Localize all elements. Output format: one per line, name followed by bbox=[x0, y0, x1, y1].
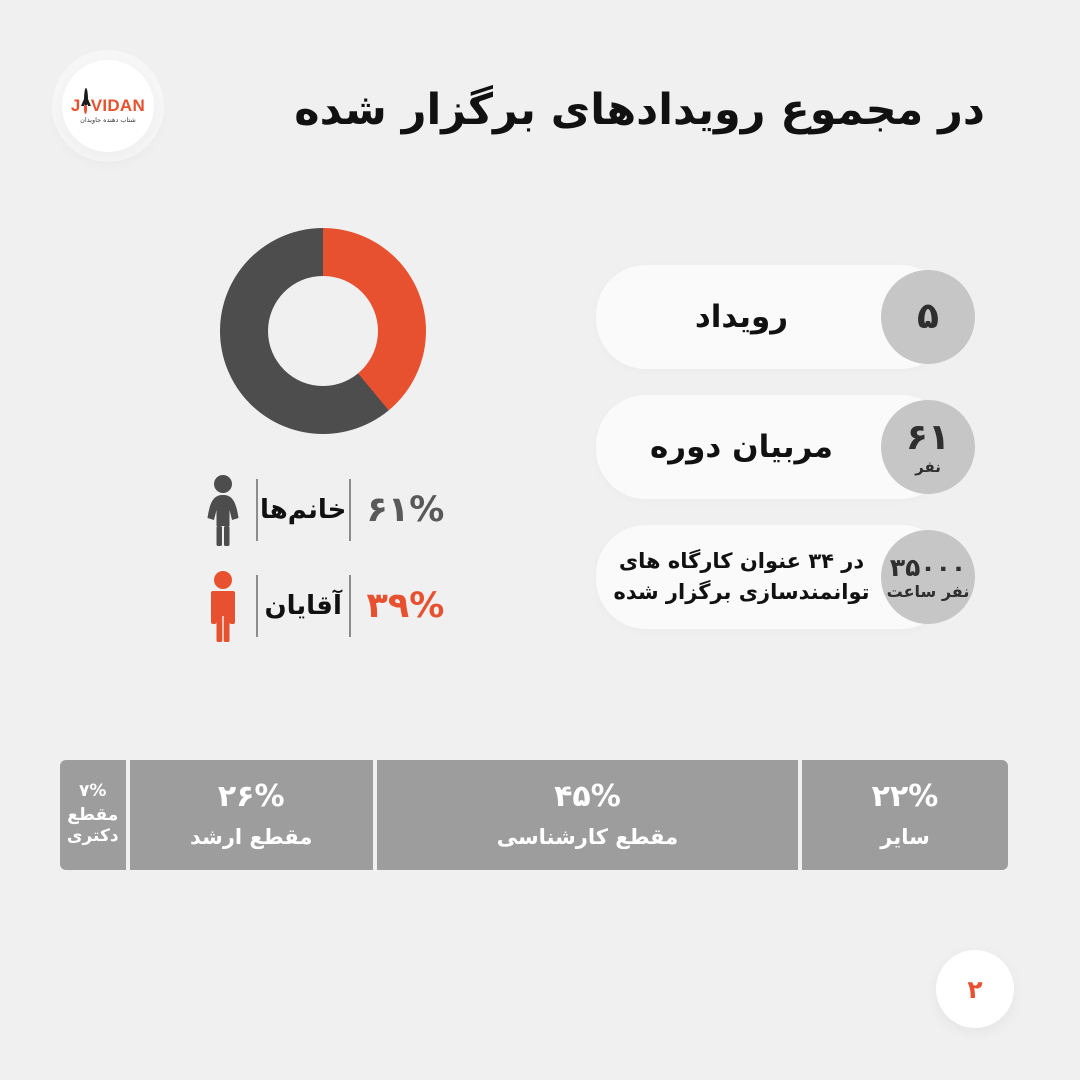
logo-wordmark-left: J bbox=[71, 97, 81, 114]
education-segment-masters: ۲۶% مقطع ارشد bbox=[130, 760, 373, 870]
stat-pill-coaches: مربیان دوره ۶۱ نفر bbox=[596, 395, 951, 499]
education-label-bachelors: مقطع کارشناسی bbox=[497, 825, 678, 850]
logo-wordmark-right: VIDAN bbox=[91, 97, 145, 114]
legend-row-female: خانم‌ها ۶۱% bbox=[190, 462, 460, 558]
male-icon bbox=[190, 570, 256, 642]
rocket-icon bbox=[81, 88, 91, 114]
stat-number-coaches: ۶۱ bbox=[906, 420, 950, 456]
legend-percent-male: ۳۹% bbox=[351, 586, 460, 626]
education-label-masters: مقطع ارشد bbox=[190, 825, 312, 850]
legend-divider bbox=[349, 575, 351, 637]
stat-pill-events: رویداد ۵ bbox=[596, 265, 951, 369]
logo-wordmark: J VIDAN bbox=[71, 88, 145, 114]
legend-label-male: آقایان bbox=[258, 591, 349, 621]
gender-legend: خانم‌ها ۶۱% آقایان ۳۹% bbox=[190, 462, 460, 654]
logo-subtitle: شتاب دهنده جاویدان bbox=[80, 116, 136, 124]
legend-divider bbox=[256, 575, 258, 637]
education-label-other: سایر bbox=[880, 825, 930, 850]
stat-unit-workshop-hours: نفر ساعت bbox=[887, 584, 970, 600]
female-icon bbox=[190, 474, 256, 546]
donut-center-hole bbox=[268, 276, 378, 386]
page-number-badge: ۲ bbox=[936, 950, 1014, 1028]
education-percent-phd: ۷% bbox=[79, 782, 106, 802]
education-percent-other: ۲۲% bbox=[872, 780, 939, 815]
education-stacked-bar: ۷% مقطع دکتری ۲۶% مقطع ارشد ۴۵% مقطع کار… bbox=[60, 760, 996, 870]
education-segment-other: ۲۲% سایر bbox=[802, 760, 1008, 870]
legend-percent-female: ۶۱% bbox=[351, 490, 460, 530]
education-percent-bachelors: ۴۵% bbox=[554, 780, 621, 815]
stat-number-events: ۵ bbox=[917, 299, 939, 335]
stat-pill-workshop-hours: در ۳۴ عنوان کارگاه های توانمندسازی برگزا… bbox=[596, 525, 951, 629]
stat-number-workshop-hours: ۳۵۰۰۰ bbox=[890, 555, 966, 580]
stat-badge-workshop-hours: ۳۵۰۰۰ نفر ساعت bbox=[881, 530, 975, 624]
stat-unit-coaches: نفر bbox=[915, 460, 941, 475]
legend-divider bbox=[256, 479, 258, 541]
infographic-canvas: J VIDAN شتاب دهنده جاویدان در مجموع روید… bbox=[0, 0, 1080, 1080]
legend-divider bbox=[349, 479, 351, 541]
legend-label-female: خانم‌ها bbox=[258, 495, 349, 525]
education-label-phd: مقطع دکتری bbox=[62, 805, 124, 846]
stat-badge-events: ۵ bbox=[881, 270, 975, 364]
education-percent-masters: ۲۶% bbox=[218, 780, 285, 815]
education-segment-phd: ۷% مقطع دکتری bbox=[60, 760, 126, 870]
gender-donut-chart bbox=[220, 228, 426, 434]
education-segment-bachelors: ۴۵% مقطع کارشناسی bbox=[377, 760, 798, 870]
legend-row-male: آقایان ۳۹% bbox=[190, 558, 460, 654]
stat-badge-coaches: ۶۱ نفر bbox=[881, 400, 975, 494]
page-title: در مجموع رویدادهای برگزار شده bbox=[225, 84, 985, 138]
brand-logo: J VIDAN شتاب دهنده جاویدان bbox=[62, 60, 154, 152]
